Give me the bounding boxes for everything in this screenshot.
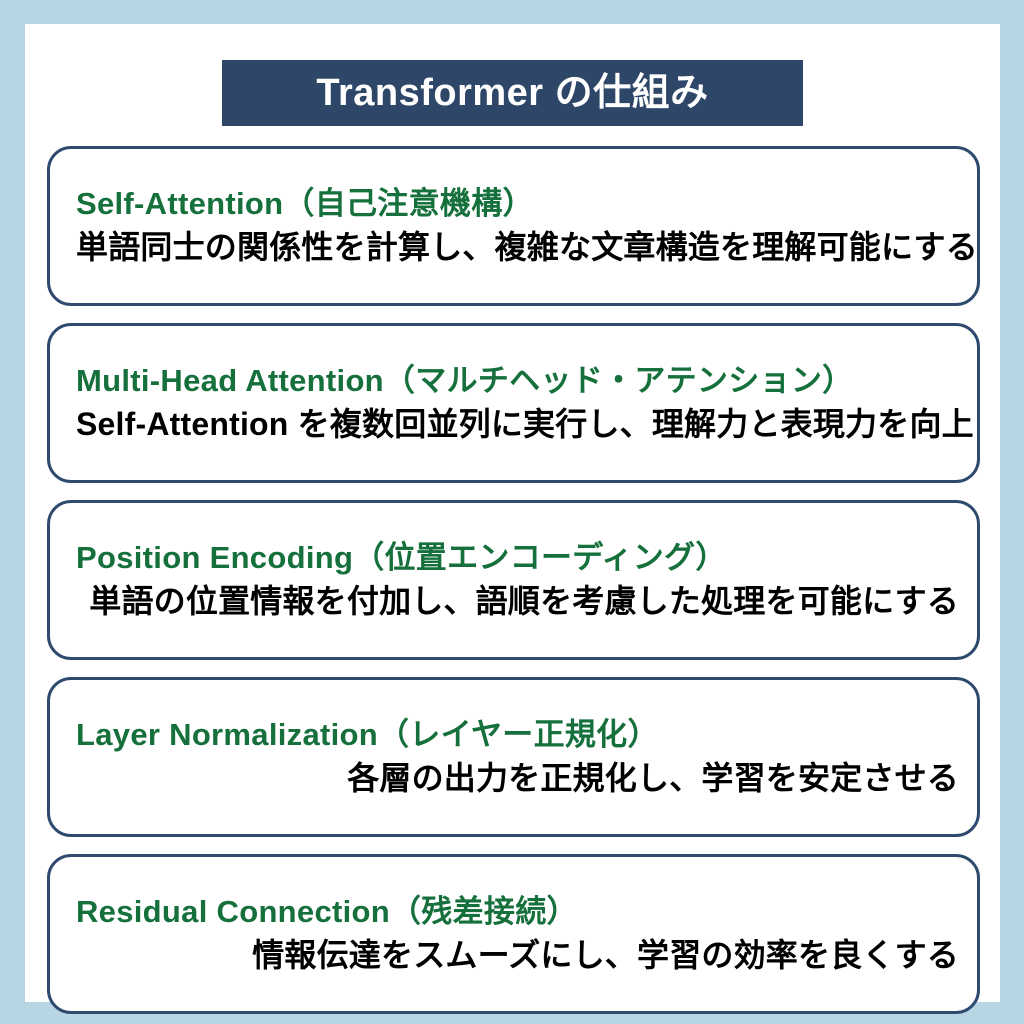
- concept-card-self-attention: Self-Attention（自己注意機構） 単語同士の関係性を計算し、複雑な文…: [47, 146, 980, 306]
- card-body: 各層の出力を正規化し、学習を安定させる: [76, 760, 959, 797]
- concept-card-list: Self-Attention（自己注意機構） 単語同士の関係性を計算し、複雑な文…: [47, 146, 980, 1014]
- concept-card-layer-normalization: Layer Normalization（レイヤー正規化） 各層の出力を正規化し、…: [47, 677, 980, 837]
- card-body: Self-Attention を複数回並列に実行し、理解力と表現力を向上: [76, 406, 959, 443]
- infographic-canvas: Transformer の仕組み Self-Attention（自己注意機構） …: [0, 0, 1024, 1024]
- card-body: 単語の位置情報を付加し、語順を考慮した処理を可能にする: [76, 583, 959, 620]
- card-body: 情報伝達をスムーズにし、学習の効率を良くする: [76, 937, 959, 974]
- concept-card-residual-connection: Residual Connection（残差接続） 情報伝達をスムーズにし、学習…: [47, 854, 980, 1014]
- card-heading: Layer Normalization（レイヤー正規化）: [76, 717, 959, 753]
- card-heading: Position Encoding（位置エンコーディング）: [76, 540, 959, 576]
- card-body: 単語同士の関係性を計算し、複雑な文章構造を理解可能にする: [76, 229, 959, 266]
- card-heading: Multi-Head Attention（マルチヘッド・アテンション）: [76, 363, 959, 399]
- concept-card-multi-head-attention: Multi-Head Attention（マルチヘッド・アテンション） Self…: [47, 323, 980, 483]
- concept-card-position-encoding: Position Encoding（位置エンコーディング） 単語の位置情報を付加…: [47, 500, 980, 660]
- page-title: Transformer の仕組み: [316, 74, 708, 112]
- title-banner: Transformer の仕組み: [222, 60, 803, 126]
- card-heading: Self-Attention（自己注意機構）: [76, 186, 959, 222]
- card-heading: Residual Connection（残差接続）: [76, 894, 959, 930]
